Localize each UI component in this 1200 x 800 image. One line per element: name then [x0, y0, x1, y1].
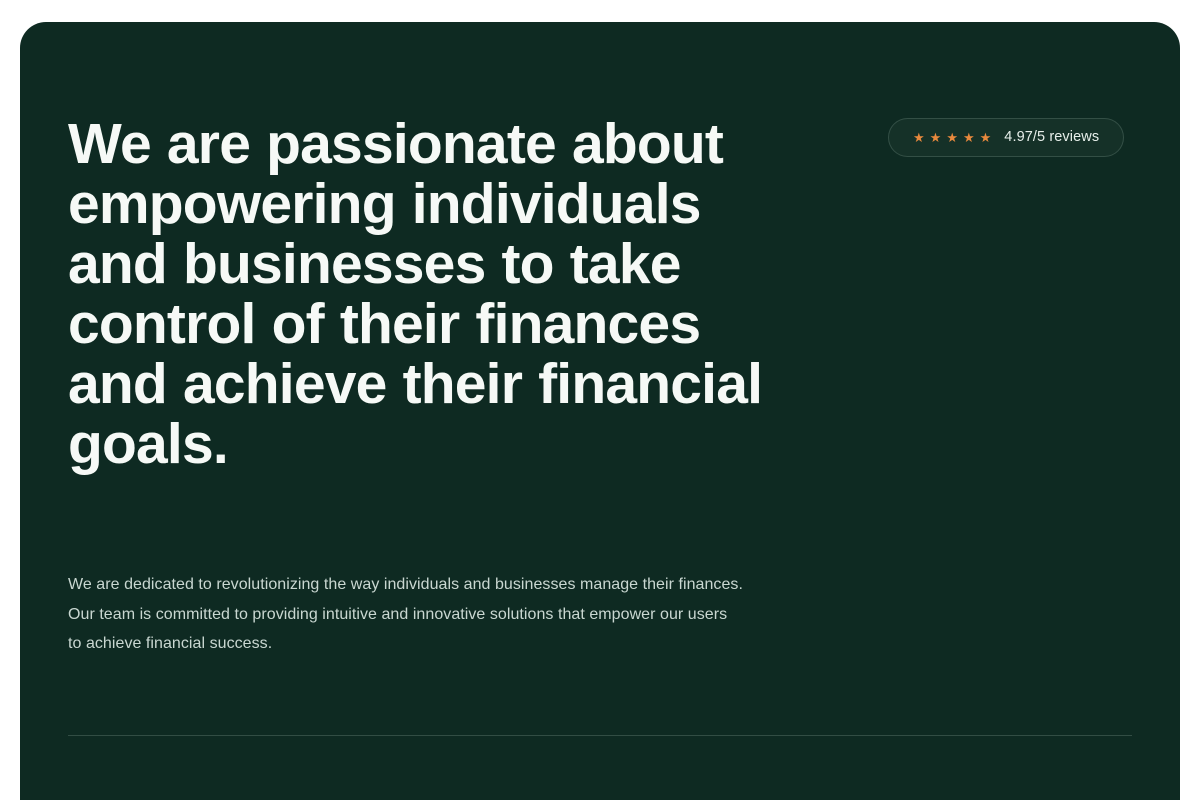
star-rating: ★ ★ ★ ★ ★: [913, 131, 991, 144]
rating-label: 4.97/5 reviews: [1004, 130, 1099, 145]
section-divider: [68, 735, 1132, 736]
star-icon: ★: [930, 131, 942, 144]
page-root: ★ ★ ★ ★ ★ 4.97/5 reviews We are passiona…: [0, 0, 1200, 800]
star-icon: ★: [913, 131, 925, 144]
rating-badge[interactable]: ★ ★ ★ ★ ★ 4.97/5 reviews: [888, 118, 1124, 157]
page-title: We are passionate about empowering indiv…: [68, 114, 780, 474]
hero-description: We are dedicated to revolutionizing the …: [68, 570, 744, 659]
star-icon: ★: [946, 131, 958, 144]
star-icon: ★: [963, 131, 975, 144]
hero-panel: ★ ★ ★ ★ ★ 4.97/5 reviews We are passiona…: [20, 22, 1180, 800]
star-icon: ★: [980, 131, 992, 144]
hero-content: ★ ★ ★ ★ ★ 4.97/5 reviews We are passiona…: [20, 22, 1180, 800]
